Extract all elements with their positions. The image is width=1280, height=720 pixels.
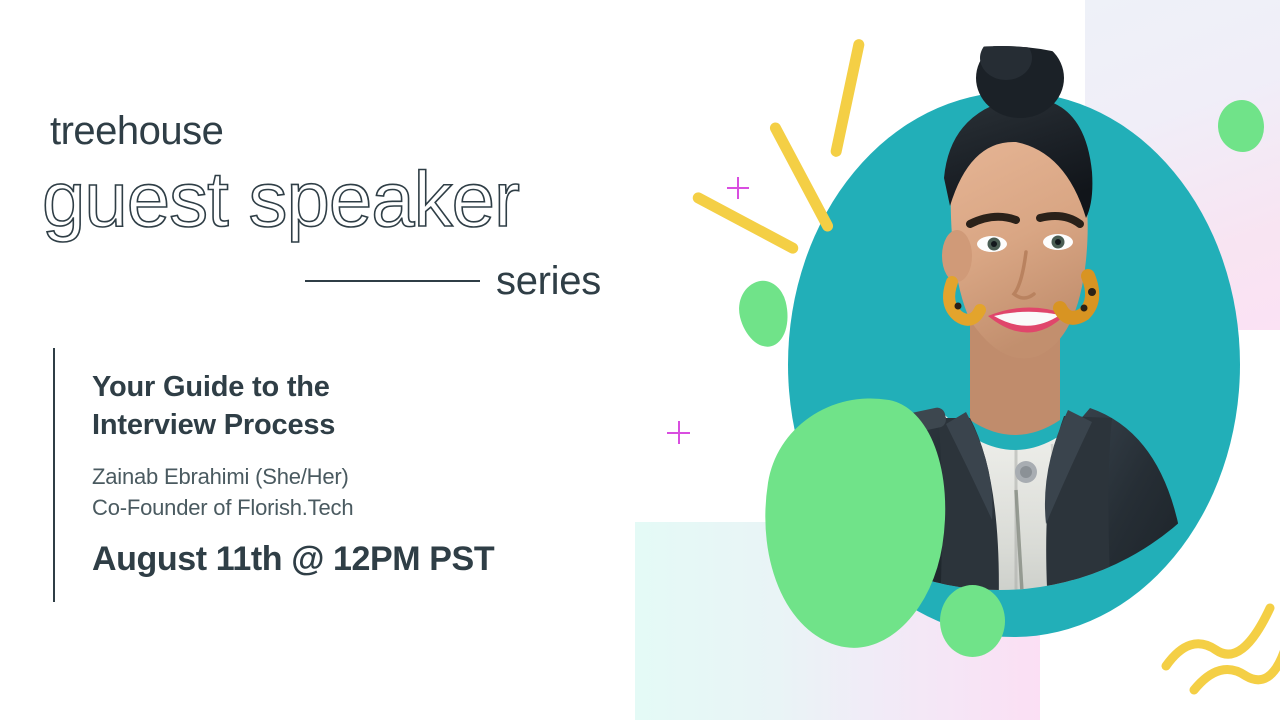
magenta-plus-lower-icon [667, 421, 690, 444]
yellow-sparkle-dashes [744, 34, 894, 204]
sparkle-dash-icon [768, 121, 835, 234]
yellow-wavy-lines [1160, 588, 1280, 698]
headline-outline: guest speaker [42, 160, 519, 238]
green-dot-bottom [940, 585, 1005, 657]
brand-name: treehouse [50, 109, 223, 154]
speaker-name: Zainab Ebrahimi (She/Her) [92, 461, 612, 493]
slide-canvas: treehouse guest speaker series Your Guid… [0, 0, 1280, 720]
sparkle-dash-icon [830, 38, 866, 158]
sparkle-dash-icon [691, 190, 800, 255]
series-divider [305, 280, 480, 282]
series-row: series [305, 255, 625, 307]
speaker-role: Co-Founder of Florish.Tech [92, 492, 612, 524]
accent-bar [53, 348, 55, 602]
green-dot-top-right [1218, 100, 1264, 152]
session-datetime: August 11th @ 12PM PST [92, 540, 612, 579]
session-title-line2: Interview Process [92, 406, 612, 444]
session-info: Your Guide to the Interview Process Zain… [92, 368, 612, 579]
green-blob-small [733, 276, 796, 352]
series-label: series [496, 259, 601, 304]
session-title-line1: Your Guide to the [92, 368, 612, 406]
session-title: Your Guide to the Interview Process [92, 368, 612, 445]
magenta-plus-upper-icon [727, 177, 749, 199]
